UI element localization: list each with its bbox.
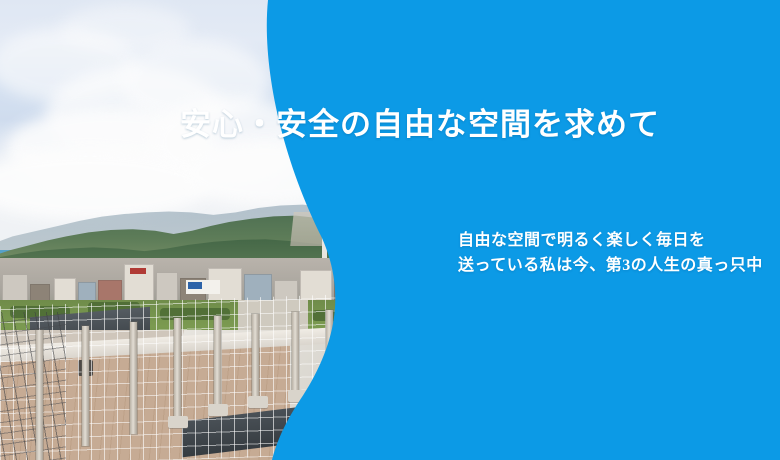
page-title: 安心・安全の自由な空間を求めて xyxy=(0,105,780,145)
hero-subtitle: 自由な空間で明るく楽しく毎日を 送っている私は今、第3の人生の真っ只中 xyxy=(458,228,763,278)
hero-text-layer: 安心・安全の自由な空間を求めて 自由な空間で明るく楽しく毎日を 送っている私は今… xyxy=(0,0,780,460)
hero-subtitle-line-1: 自由な空間で明るく楽しく毎日を xyxy=(458,228,763,253)
hero-banner: 安心・安全の自由な空間を求めて 自由な空間で明るく楽しく毎日を 送っている私は今… xyxy=(0,0,780,460)
hero-subtitle-line-2: 送っている私は今、第3の人生の真っ只中 xyxy=(458,253,763,278)
